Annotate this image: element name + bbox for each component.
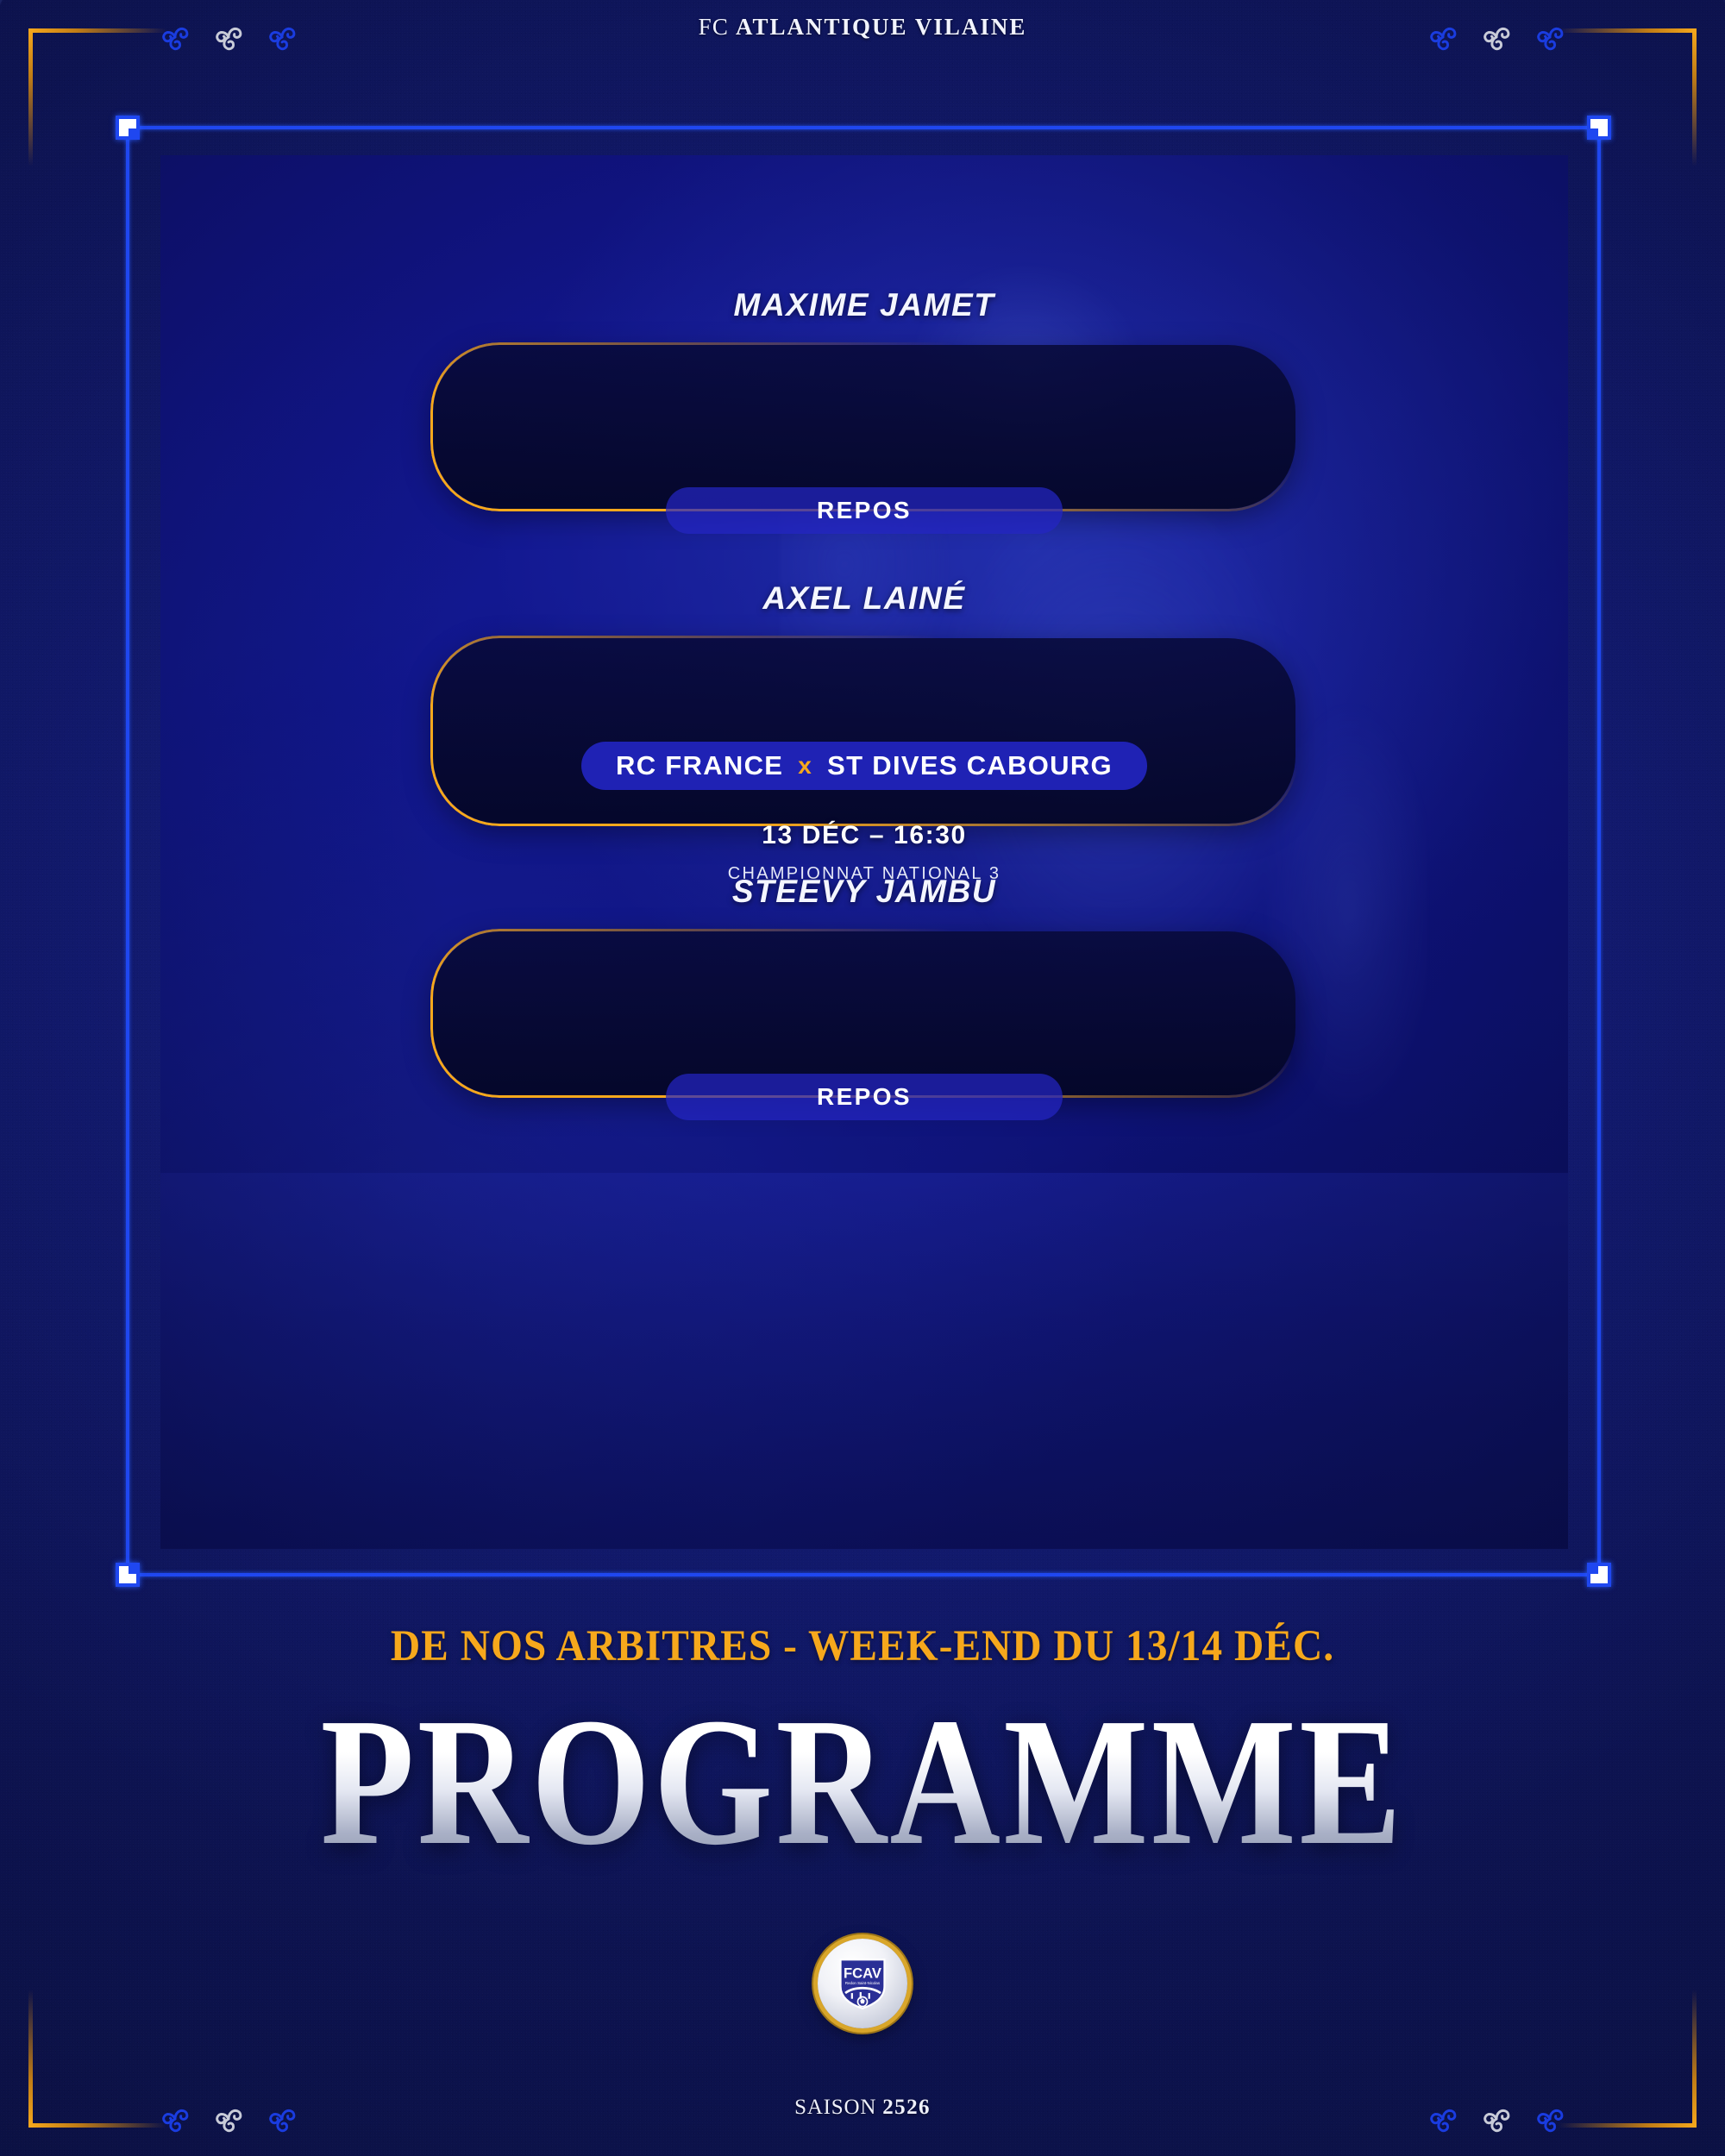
season-label: SAISON: [794, 2096, 876, 2119]
frame-line-left: [126, 126, 129, 1576]
frame-handle-bottom-right: [1587, 1563, 1611, 1587]
club-shield-icon: FCAV Redon Saint-Nicolas: [838, 1957, 887, 2010]
svg-text:Redon Saint-Nicolas: Redon Saint-Nicolas: [845, 1981, 881, 1985]
referee-card: [433, 345, 1295, 509]
referee-status-badge: REPOS: [666, 1074, 1063, 1120]
frame-line-top: [126, 126, 1601, 129]
versus-separator: x: [798, 752, 812, 780]
referee-card-list: MAXIME JAMET REPOS AXEL LAINÉ RC FRANCE …: [160, 155, 1568, 1549]
match-fixture-badge: RC FRANCE x ST DIVES CABOURG: [581, 742, 1147, 790]
referee-card: [433, 638, 1295, 824]
poster-subtitle: DE NOS ARBITRES - WEEK-END DU 13/14 DÉC.: [60, 1621, 1665, 1671]
referee-name: STEEVY JAMBU: [732, 874, 996, 910]
club-header: FC ATLANTIQUE VILAINE: [0, 14, 1725, 41]
match-datetime: 13 DÉC – 16:30: [762, 821, 967, 850]
corner-bracket-top-right: [1559, 28, 1697, 166]
referee-status-badge: REPOS: [666, 487, 1063, 534]
season-footer: SAISON 2526: [0, 2096, 1725, 2120]
referee-name: MAXIME JAMET: [734, 287, 995, 323]
frame-handle-bottom-left: [116, 1563, 140, 1587]
frame-line-right: [1597, 126, 1601, 1576]
svg-text:FCAV: FCAV: [844, 1965, 881, 1981]
frame-line-bottom: [126, 1573, 1601, 1576]
frame-handle-top-right: [1587, 116, 1611, 140]
club-prefix: FC: [699, 14, 729, 40]
poster-title: PROGRAMME: [138, 1690, 1587, 1873]
club-logo-badge: FCAV Redon Saint-Nicolas: [818, 1939, 907, 2028]
season-value: 2526: [882, 2096, 931, 2119]
home-team: RC FRANCE: [616, 750, 783, 781]
corner-bracket-top-left: [28, 28, 166, 166]
club-name: ATLANTIQUE VILAINE: [736, 14, 1026, 40]
referee-card: [433, 931, 1295, 1095]
away-team: ST DIVES CABOURG: [827, 750, 1113, 781]
frame-handle-top-left: [116, 116, 140, 140]
referee-name: AXEL LAINÉ: [762, 580, 965, 617]
poster-root: FC ATLANTIQUE VILAINE: [0, 0, 1725, 2156]
